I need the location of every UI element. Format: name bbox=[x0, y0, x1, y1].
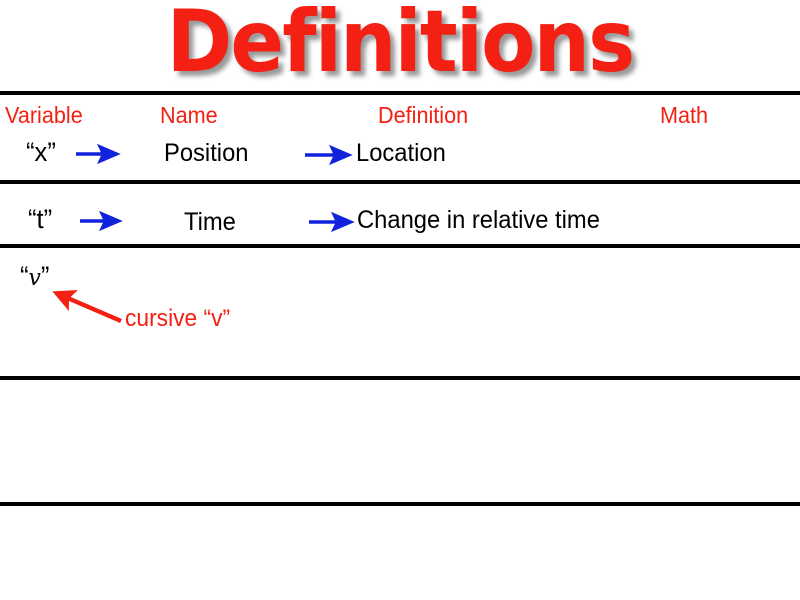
row3-variable: “v” bbox=[20, 262, 49, 292]
row2-variable: “t” bbox=[28, 205, 52, 233]
annotation-label-cursive-v: cursive “v” bbox=[125, 306, 230, 332]
table-rule-row1 bbox=[0, 179, 800, 184]
column-header-definition: Definition bbox=[378, 104, 468, 127]
row1-variable: “x” bbox=[26, 138, 56, 166]
table-rule-row4 bbox=[0, 501, 800, 506]
row3-variable-open-quote: “ bbox=[20, 261, 29, 291]
slide-canvas: Definitions Variable Name Definition Mat… bbox=[0, 0, 800, 600]
row2-definition: Change in relative time bbox=[357, 206, 600, 234]
row3-variable-close-quote: ” bbox=[41, 261, 50, 291]
row1-definition: Location bbox=[356, 139, 446, 167]
column-header-math: Math bbox=[660, 104, 708, 127]
table-rule-row2 bbox=[0, 243, 800, 248]
row1-name: Position bbox=[164, 139, 249, 167]
annotation-arrow-to-cursive-v bbox=[56, 293, 121, 321]
row2-name: Time bbox=[184, 208, 236, 236]
column-header-variable: Variable bbox=[5, 104, 83, 127]
table-rule-row3 bbox=[0, 375, 800, 380]
page-title: Definitions bbox=[32, 0, 768, 90]
row3-variable-cursive-v-glyph: v bbox=[29, 265, 41, 291]
column-header-name: Name bbox=[160, 104, 218, 127]
table-rule-top bbox=[0, 90, 800, 95]
